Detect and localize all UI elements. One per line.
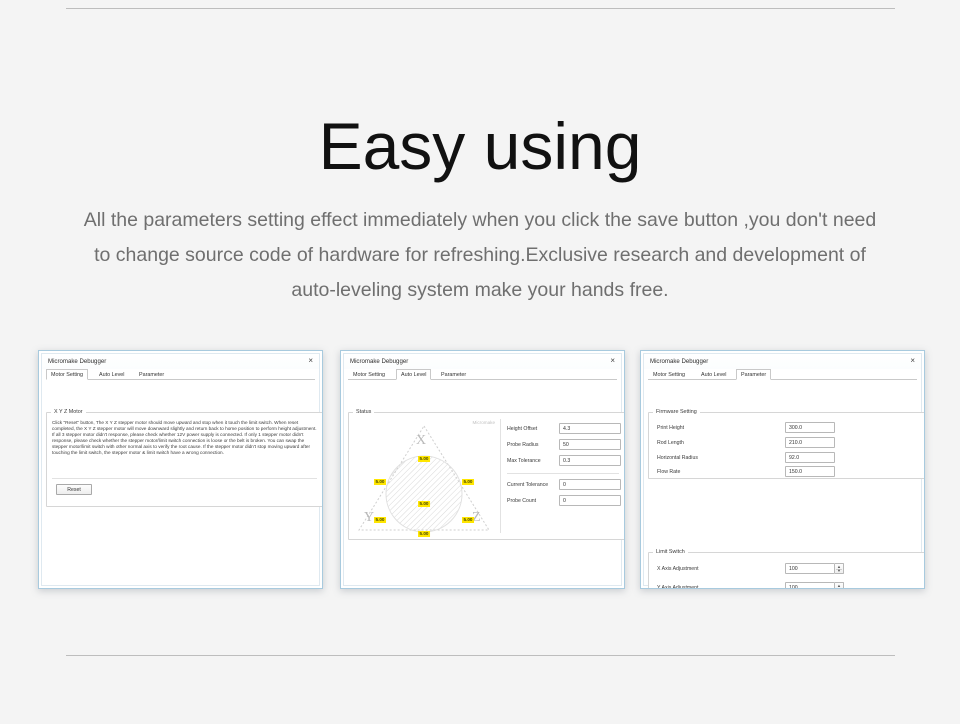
close-icon[interactable]: × xyxy=(308,357,313,365)
stepper-x-axis-adjustment[interactable]: ▲ ▼ xyxy=(835,563,844,574)
probe-value-lower-left: 5.00 xyxy=(374,517,386,523)
field-row-height-offset: Height Offset 4.3 xyxy=(507,423,619,435)
tab-parameter[interactable]: Parameter xyxy=(736,369,771,380)
status-fields-divider xyxy=(507,473,619,474)
page-subtitle: All the parameters setting effect immedi… xyxy=(80,203,880,308)
input-rod-length[interactable]: 210.0 xyxy=(785,437,835,448)
input-max-tolerance[interactable]: 0.3 xyxy=(559,455,621,466)
tab-motor-setting[interactable]: Motor Setting xyxy=(648,369,690,380)
xyz-divider xyxy=(52,478,317,479)
tab-strip: Motor Setting Auto Level Parameter xyxy=(648,369,917,380)
field-row-rod-length: Rod Length 210.0 xyxy=(657,437,919,449)
field-row-current-tolerance: Current Tolerance 0 xyxy=(507,479,619,491)
input-flow-rate[interactable]: 150.0 xyxy=(785,466,835,477)
tab-strip: Motor Setting Auto Level Parameter xyxy=(46,369,315,380)
debugger-window-auto-level[interactable]: Micromake Debugger × Motor Setting Auto … xyxy=(340,350,625,589)
window-title: Micromake Debugger xyxy=(350,358,408,365)
window-title: Micromake Debugger xyxy=(48,358,106,365)
label-current-tolerance: Current Tolerance xyxy=(507,482,548,488)
input-print-height[interactable]: 300.0 xyxy=(785,422,835,433)
group-legend-limit-switch: Limit Switch xyxy=(653,549,688,555)
field-row-x-axis-adjustment: X Axis Adjustment 100 ▲ ▼ xyxy=(657,563,919,575)
field-row-max-tolerance: Max Tolerance 0.3 xyxy=(507,455,619,467)
label-height-offset: Height Offset xyxy=(507,426,537,432)
title-bar[interactable]: Micromake Debugger × xyxy=(344,354,621,369)
tab-motor-setting[interactable]: Motor Setting xyxy=(46,369,88,380)
close-icon[interactable]: × xyxy=(610,357,615,365)
tab-auto-level[interactable]: Auto Level xyxy=(94,369,129,380)
bottom-divider xyxy=(66,655,895,656)
reset-button[interactable]: Reset xyxy=(56,484,92,495)
label-x-axis-adjustment: X Axis Adjustment xyxy=(657,566,699,572)
field-row-flow-rate: Flow Rate 150.0 xyxy=(657,466,919,478)
label-max-tolerance: Max Tolerance xyxy=(507,458,541,464)
label-y-axis-adjustment: Y Axis Adjustment xyxy=(657,585,698,590)
tab-motor-setting[interactable]: Motor Setting xyxy=(348,369,390,380)
status-vertical-divider xyxy=(500,419,501,533)
stepper-divider xyxy=(836,588,842,589)
label-flow-rate: Flow Rate xyxy=(657,469,680,475)
tab-parameter[interactable]: Parameter xyxy=(134,369,169,380)
tab-auto-level[interactable]: Auto Level xyxy=(696,369,731,380)
input-height-offset[interactable]: 4.3 xyxy=(559,423,621,434)
stepper-down-icon[interactable]: ▼ xyxy=(835,587,843,589)
group-legend-status: Status xyxy=(353,409,374,415)
window-inner-frame: Micromake Debugger × Motor Setting Auto … xyxy=(41,353,320,586)
field-row-probe-count: Probe Count 0 xyxy=(507,495,619,507)
window-inner-frame: Micromake Debugger × Motor Setting Auto … xyxy=(643,353,922,586)
input-probe-radius[interactable]: 50 xyxy=(559,439,621,450)
label-probe-count: Probe Count xyxy=(507,498,536,504)
probe-value-upper-right: 5.00 xyxy=(462,479,474,485)
page-title: Easy using xyxy=(0,112,960,181)
axis-label-x: X xyxy=(416,434,426,448)
group-xyz-motor: X Y Z Motor Click "Reset" button, The X … xyxy=(46,412,323,507)
probe-value-top: 5.00 xyxy=(418,456,430,462)
group-status: Status Micromake X Y Z 5.00 5.00 xyxy=(348,412,625,540)
field-row-horizontal-radius: Horizontal Radius 92.0 xyxy=(657,452,919,464)
debugger-window-motor-setting[interactable]: Micromake Debugger × Motor Setting Auto … xyxy=(38,350,323,589)
input-probe-count[interactable]: 0 xyxy=(559,495,621,506)
probe-value-upper-left: 5.00 xyxy=(374,479,386,485)
input-current-tolerance[interactable]: 0 xyxy=(559,479,621,490)
debugger-window-parameter[interactable]: Micromake Debugger × Motor Setting Auto … xyxy=(640,350,925,589)
auto-level-triangle-diagram: Micromake X Y Z 5.00 5.00 5.00 5.00 5.00… xyxy=(352,418,497,536)
stepper-y-axis-adjustment[interactable]: ▲ ▼ xyxy=(835,582,844,589)
probe-value-center: 5.00 xyxy=(418,501,430,507)
label-horizontal-radius: Horizontal Radius xyxy=(657,455,698,461)
top-divider xyxy=(66,8,895,9)
input-x-axis-adjustment[interactable]: 100 xyxy=(785,563,835,574)
window-title: Micromake Debugger xyxy=(650,358,708,365)
label-probe-radius: Probe Radius xyxy=(507,442,538,448)
group-legend-xyz-motor: X Y Z Motor xyxy=(51,409,86,415)
tab-strip: Motor Setting Auto Level Parameter xyxy=(348,369,617,380)
tab-parameter[interactable]: Parameter xyxy=(436,369,471,380)
title-bar[interactable]: Micromake Debugger × xyxy=(42,354,319,369)
watermark-label: Micromake xyxy=(473,420,495,425)
stepper-down-icon[interactable]: ▼ xyxy=(835,568,843,573)
input-y-axis-adjustment[interactable]: 100 xyxy=(785,582,835,589)
field-row-probe-radius: Probe Radius 50 xyxy=(507,439,619,451)
field-row-y-axis-adjustment: Y Axis Adjustment 100 ▲ ▼ xyxy=(657,582,919,589)
group-limit-switch: Limit Switch X Axis Adjustment 100 ▲ ▼ Y… xyxy=(648,552,925,589)
title-bar[interactable]: Micromake Debugger × xyxy=(644,354,921,369)
window-inner-frame: Micromake Debugger × Motor Setting Auto … xyxy=(343,353,622,586)
tab-auto-level[interactable]: Auto Level xyxy=(396,369,431,380)
group-legend-firmware-setting: Firmware Setting xyxy=(653,409,700,415)
group-firmware-setting: Firmware Setting Print Height 300.0 Rod … xyxy=(648,412,925,479)
close-icon[interactable]: × xyxy=(910,357,915,365)
probe-value-lower-right: 5.00 xyxy=(462,517,474,523)
input-horizontal-radius[interactable]: 92.0 xyxy=(785,452,835,463)
axis-label-y: Y xyxy=(364,511,374,525)
label-print-height: Print Height xyxy=(657,425,684,431)
field-row-print-height: Print Height 300.0 xyxy=(657,422,919,434)
xyz-motor-description: Click "Reset" button, The X Y Z stepper … xyxy=(52,420,317,457)
probe-value-bottom: 5.00 xyxy=(418,531,430,537)
label-rod-length: Rod Length xyxy=(657,440,684,446)
